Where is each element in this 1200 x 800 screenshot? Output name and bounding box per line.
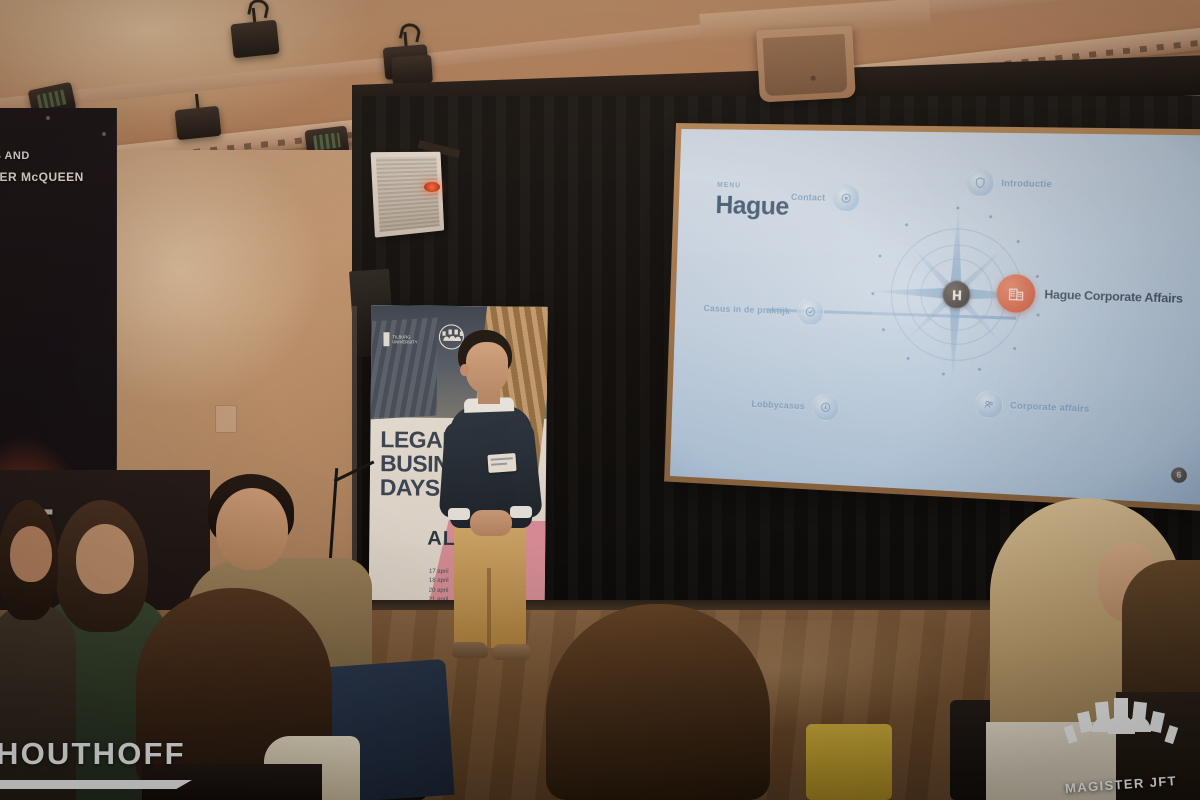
poster-line-1: OUS AND (0, 150, 30, 162)
presenter (430, 330, 550, 670)
poster-line-2: ANDER McQUEEN (0, 170, 84, 184)
houthoff-text: HOUTHOFF (0, 736, 186, 772)
photo-scene: OUS AND ANDER McQUEEN F MENU Hague (0, 0, 1200, 800)
ceiling-speaker-icon (756, 26, 856, 103)
spotlight-icon (391, 55, 433, 86)
houthoff-wordmark: HOUTHOFF (0, 734, 206, 790)
name-badge (487, 453, 516, 473)
tilburg-university-logo: TILBURGUNIVERSITY (383, 331, 427, 347)
indicator-light-icon (424, 182, 440, 192)
projection-screen-frame: MENU Hague (664, 123, 1200, 511)
wall-socket (215, 405, 237, 433)
magister-jft-logo: MAGISTER JFT (1048, 690, 1194, 794)
spotlight-icon (230, 20, 279, 59)
audience-member (546, 604, 778, 800)
chair (806, 724, 892, 800)
projected-slide: MENU Hague (670, 129, 1200, 505)
spotlight-icon (175, 106, 222, 140)
wall-speaker-icon (371, 152, 445, 238)
svg-text:UNIVERSITY: UNIVERSITY (392, 339, 417, 344)
